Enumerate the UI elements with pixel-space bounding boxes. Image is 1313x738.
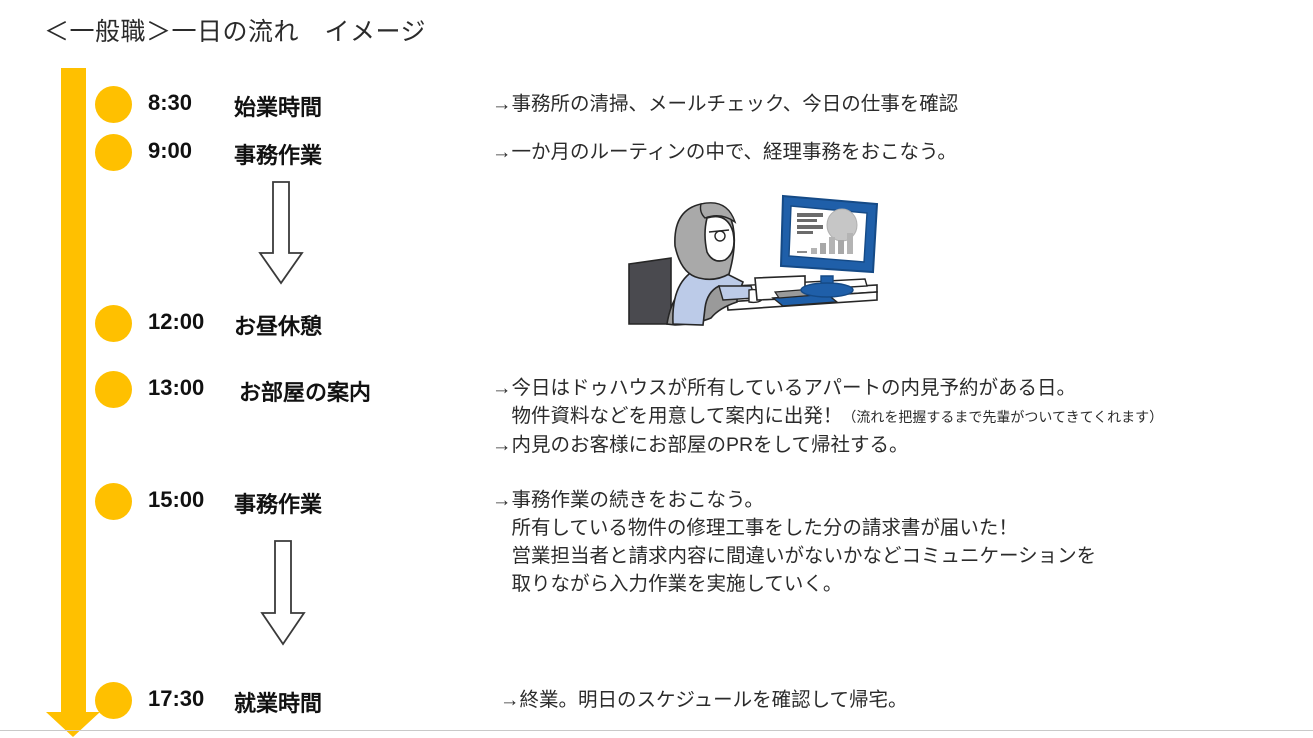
bottom-divider: [0, 730, 1313, 731]
desc-line: 物件資料などを用意して案内に出発！: [492, 405, 842, 427]
desc-line: →今日はドゥハウスが所有しているアパートの内見予約がある日。: [492, 377, 1076, 399]
desc-note: （流れを把握するまで先輩がついてきてくれます）: [842, 409, 1163, 425]
office-worker-at-desk-illustration: [615, 182, 895, 342]
timeline-dot-4: [95, 371, 132, 408]
timeline-desc-1: →事務所の清掃、メールチェック、今日の仕事を確認: [492, 90, 958, 118]
flow-arrow-morning-icon: [258, 181, 304, 285]
timeline-time-3: 12:00: [148, 309, 204, 335]
timeline-dot-6: [95, 682, 132, 719]
timeline-task-2: 事務作業: [234, 138, 322, 170]
timeline-desc-6: →終業。明日のスケジュールを確認して帰宅。: [500, 686, 908, 714]
timeline-dot-2: [95, 134, 132, 171]
timeline-task-5: 事務作業: [234, 487, 322, 519]
timeline-time-6: 17:30: [148, 686, 204, 712]
page-title: ＜一般職＞一日の流れ イメージ: [44, 12, 426, 48]
slide-canvas: ＜一般職＞一日の流れ イメージ 8:30 始業時間 →事務所の清掃、メールチェッ…: [0, 0, 1313, 738]
timeline-time-2: 9:00: [148, 138, 192, 164]
timeline-dot-5: [95, 483, 132, 520]
desc-line: 所有している物件の修理工事をした分の請求書が届いた！: [492, 517, 1018, 539]
timeline-desc-4: →今日はドゥハウスが所有しているアパートの内見予約がある日。 物件資料などを用意…: [492, 374, 1163, 459]
timeline-desc-5: →事務作業の続きをおこなう。 所有している物件の修理工事をした分の請求書が届いた…: [492, 486, 1096, 598]
flow-arrow-afternoon-icon: [260, 540, 306, 646]
timeline-desc-2: →一か月のルーティンの中で、経理事務をおこなう。: [492, 138, 957, 166]
timeline-spine: [61, 68, 86, 716]
timeline-time-5: 15:00: [148, 487, 204, 513]
timeline-time-1: 8:30: [148, 90, 192, 116]
timeline-dot-1: [95, 86, 132, 123]
timeline-dot-3: [95, 305, 132, 342]
timeline-task-6: 就業時間: [234, 686, 322, 718]
timeline-task-4: お部屋の案内: [239, 375, 371, 407]
timeline-time-4: 13:00: [148, 375, 204, 401]
desc-line: →事務作業の続きをおこなう。: [492, 489, 764, 511]
timeline-task-3: お昼休憩: [234, 309, 322, 341]
desc-line: →内見のお客様にお部屋のPRをして帰社する。: [492, 434, 909, 456]
timeline-spine-arrowhead-icon: [46, 712, 100, 737]
desc-line: 営業担当者と請求内容に間違いがないかなどコミュニケーションを: [492, 545, 1096, 567]
timeline-task-1: 始業時間: [234, 90, 322, 122]
desc-line: 取りながら入力作業を実施していく。: [492, 573, 842, 595]
